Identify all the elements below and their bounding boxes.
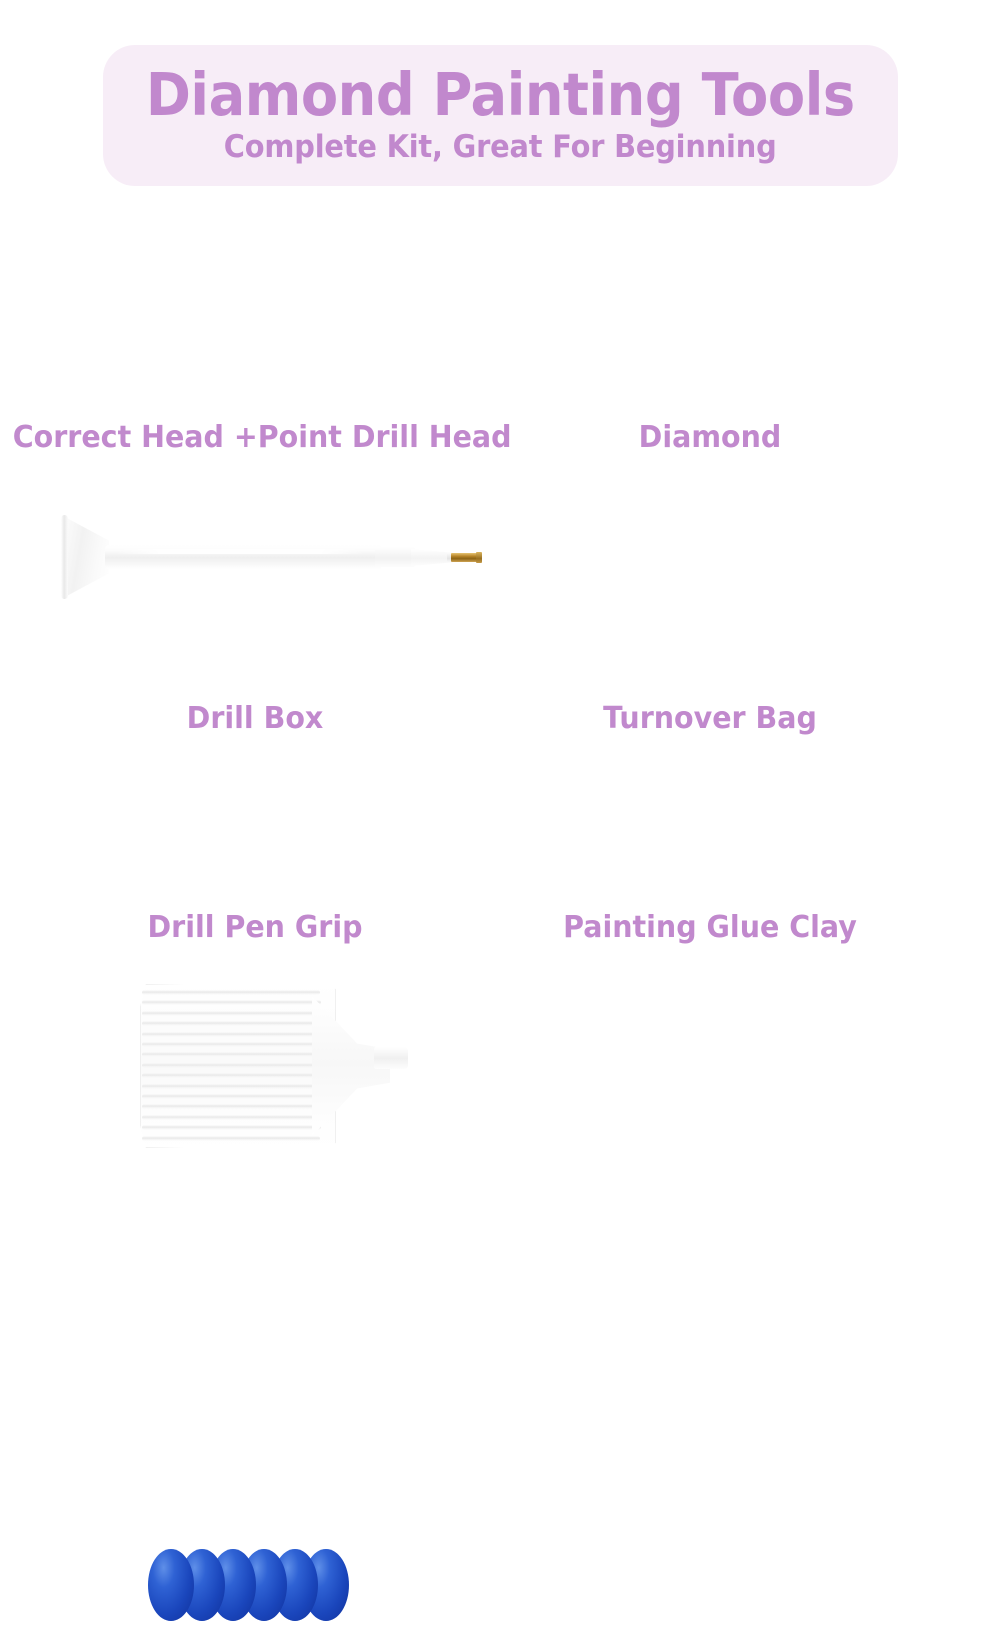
item-diamond: Diamond — [500, 240, 1000, 455]
item-correct-head-point-drill-head: Correct Head +Point Drill Head — [0, 240, 510, 455]
item-label-drill-pen-grip: Drill Pen Grip — [13, 910, 498, 945]
product-infographic: Diamond Painting Tools Complete Kit, Gre… — [0, 0, 1000, 1000]
item-label-turnover-bag: Turnover Bag — [473, 701, 948, 736]
drill-box-image — [140, 980, 410, 1152]
item-turnover-bag: Turnover Bag — [500, 485, 1000, 735]
header-banner: Diamond Painting Tools Complete Kit, Gre… — [103, 45, 898, 186]
drill-pen-grip-image — [148, 1549, 348, 1621]
item-painting-glue-clay: Painting Glue Clay — [500, 760, 1000, 960]
item-label-painting-glue-clay: Painting Glue Clay — [473, 910, 948, 945]
item-label-drill-box: Drill Box — [13, 701, 498, 736]
tray-spout — [374, 1047, 408, 1069]
page-title: Diamond Painting Tools — [146, 65, 855, 124]
page-subtitle: Complete Kit, Great For Beginning — [224, 132, 777, 163]
item-label-correct-head-point-drill-head: Correct Head +Point Drill Head — [13, 420, 498, 455]
grip-segment — [148, 1549, 194, 1621]
item-drill-pen-grip: Drill Pen Grip — [0, 760, 510, 960]
item-label-diamond: Diamond — [473, 420, 948, 455]
tray-edge — [140, 984, 336, 1148]
item-drill-box: Drill Box — [0, 485, 510, 735]
